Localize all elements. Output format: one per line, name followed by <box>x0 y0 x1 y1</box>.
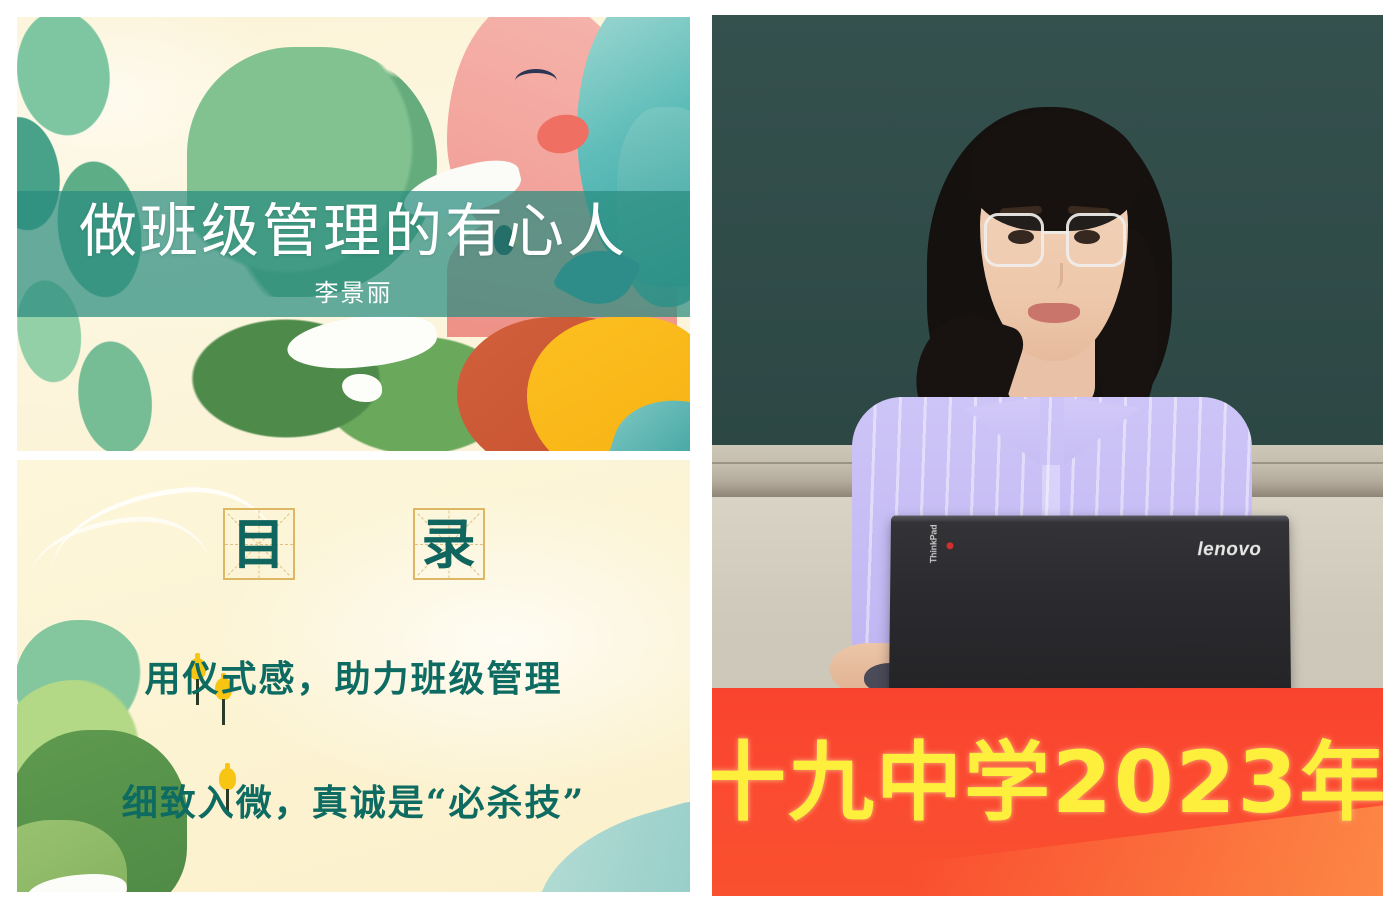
toc-item-1[interactable]: 用仪式感，助力班级管理 <box>144 650 562 702</box>
eyeglass-lens-right <box>1066 213 1126 267</box>
screenshot-root: 做班级管理的有心人 李景丽 目 录 <box>0 0 1400 910</box>
toc-heading-char-1: 目 <box>232 517 286 571</box>
grid-box-char-2: 录 <box>413 508 485 580</box>
title-banner-band: 做班级管理的有心人 李景丽 <box>17 191 690 317</box>
toc-item-list: 用仪式感，助力班级管理 细致入微，真诚是“必杀技” <box>17 650 690 826</box>
teacher-nose <box>1042 263 1063 289</box>
presentation-title: 做班级管理的有心人 <box>79 203 628 261</box>
toc-slide[interactable]: 目 录 用仪式感，助力班级管理 细致入微，真诚是“必杀技” <box>17 460 690 892</box>
event-banner: 十九中学2023年班主任工作 <box>712 688 1383 896</box>
laptop: ThinkPad lenovo <box>889 516 1291 694</box>
eyeglasses-icon <box>984 213 1126 269</box>
event-banner-text: 十九中学2023年班主任工作 <box>712 740 1383 826</box>
toc-heading-char-2: 录 <box>422 517 476 571</box>
eyeglass-lens-left <box>984 213 1044 267</box>
toc-heading: 目 录 <box>17 508 690 580</box>
title-slide[interactable]: 做班级管理的有心人 李景丽 <box>17 17 690 451</box>
thinkpad-red-dot-icon <box>946 542 953 549</box>
toc-item-2[interactable]: 细致入微，真诚是“必杀技” <box>122 774 585 826</box>
teacher-mouth <box>1028 303 1080 323</box>
presentation-author: 李景丽 <box>315 273 393 308</box>
classroom-photo[interactable]: ThinkPad lenovo 十九中学2023年班主任工作 <box>712 15 1383 896</box>
grid-box-char-1: 目 <box>223 508 295 580</box>
lenovo-logo: lenovo <box>1197 539 1261 561</box>
laptop-lid-edge <box>891 516 1289 522</box>
thinkpad-logo: ThinkPad <box>928 525 938 564</box>
